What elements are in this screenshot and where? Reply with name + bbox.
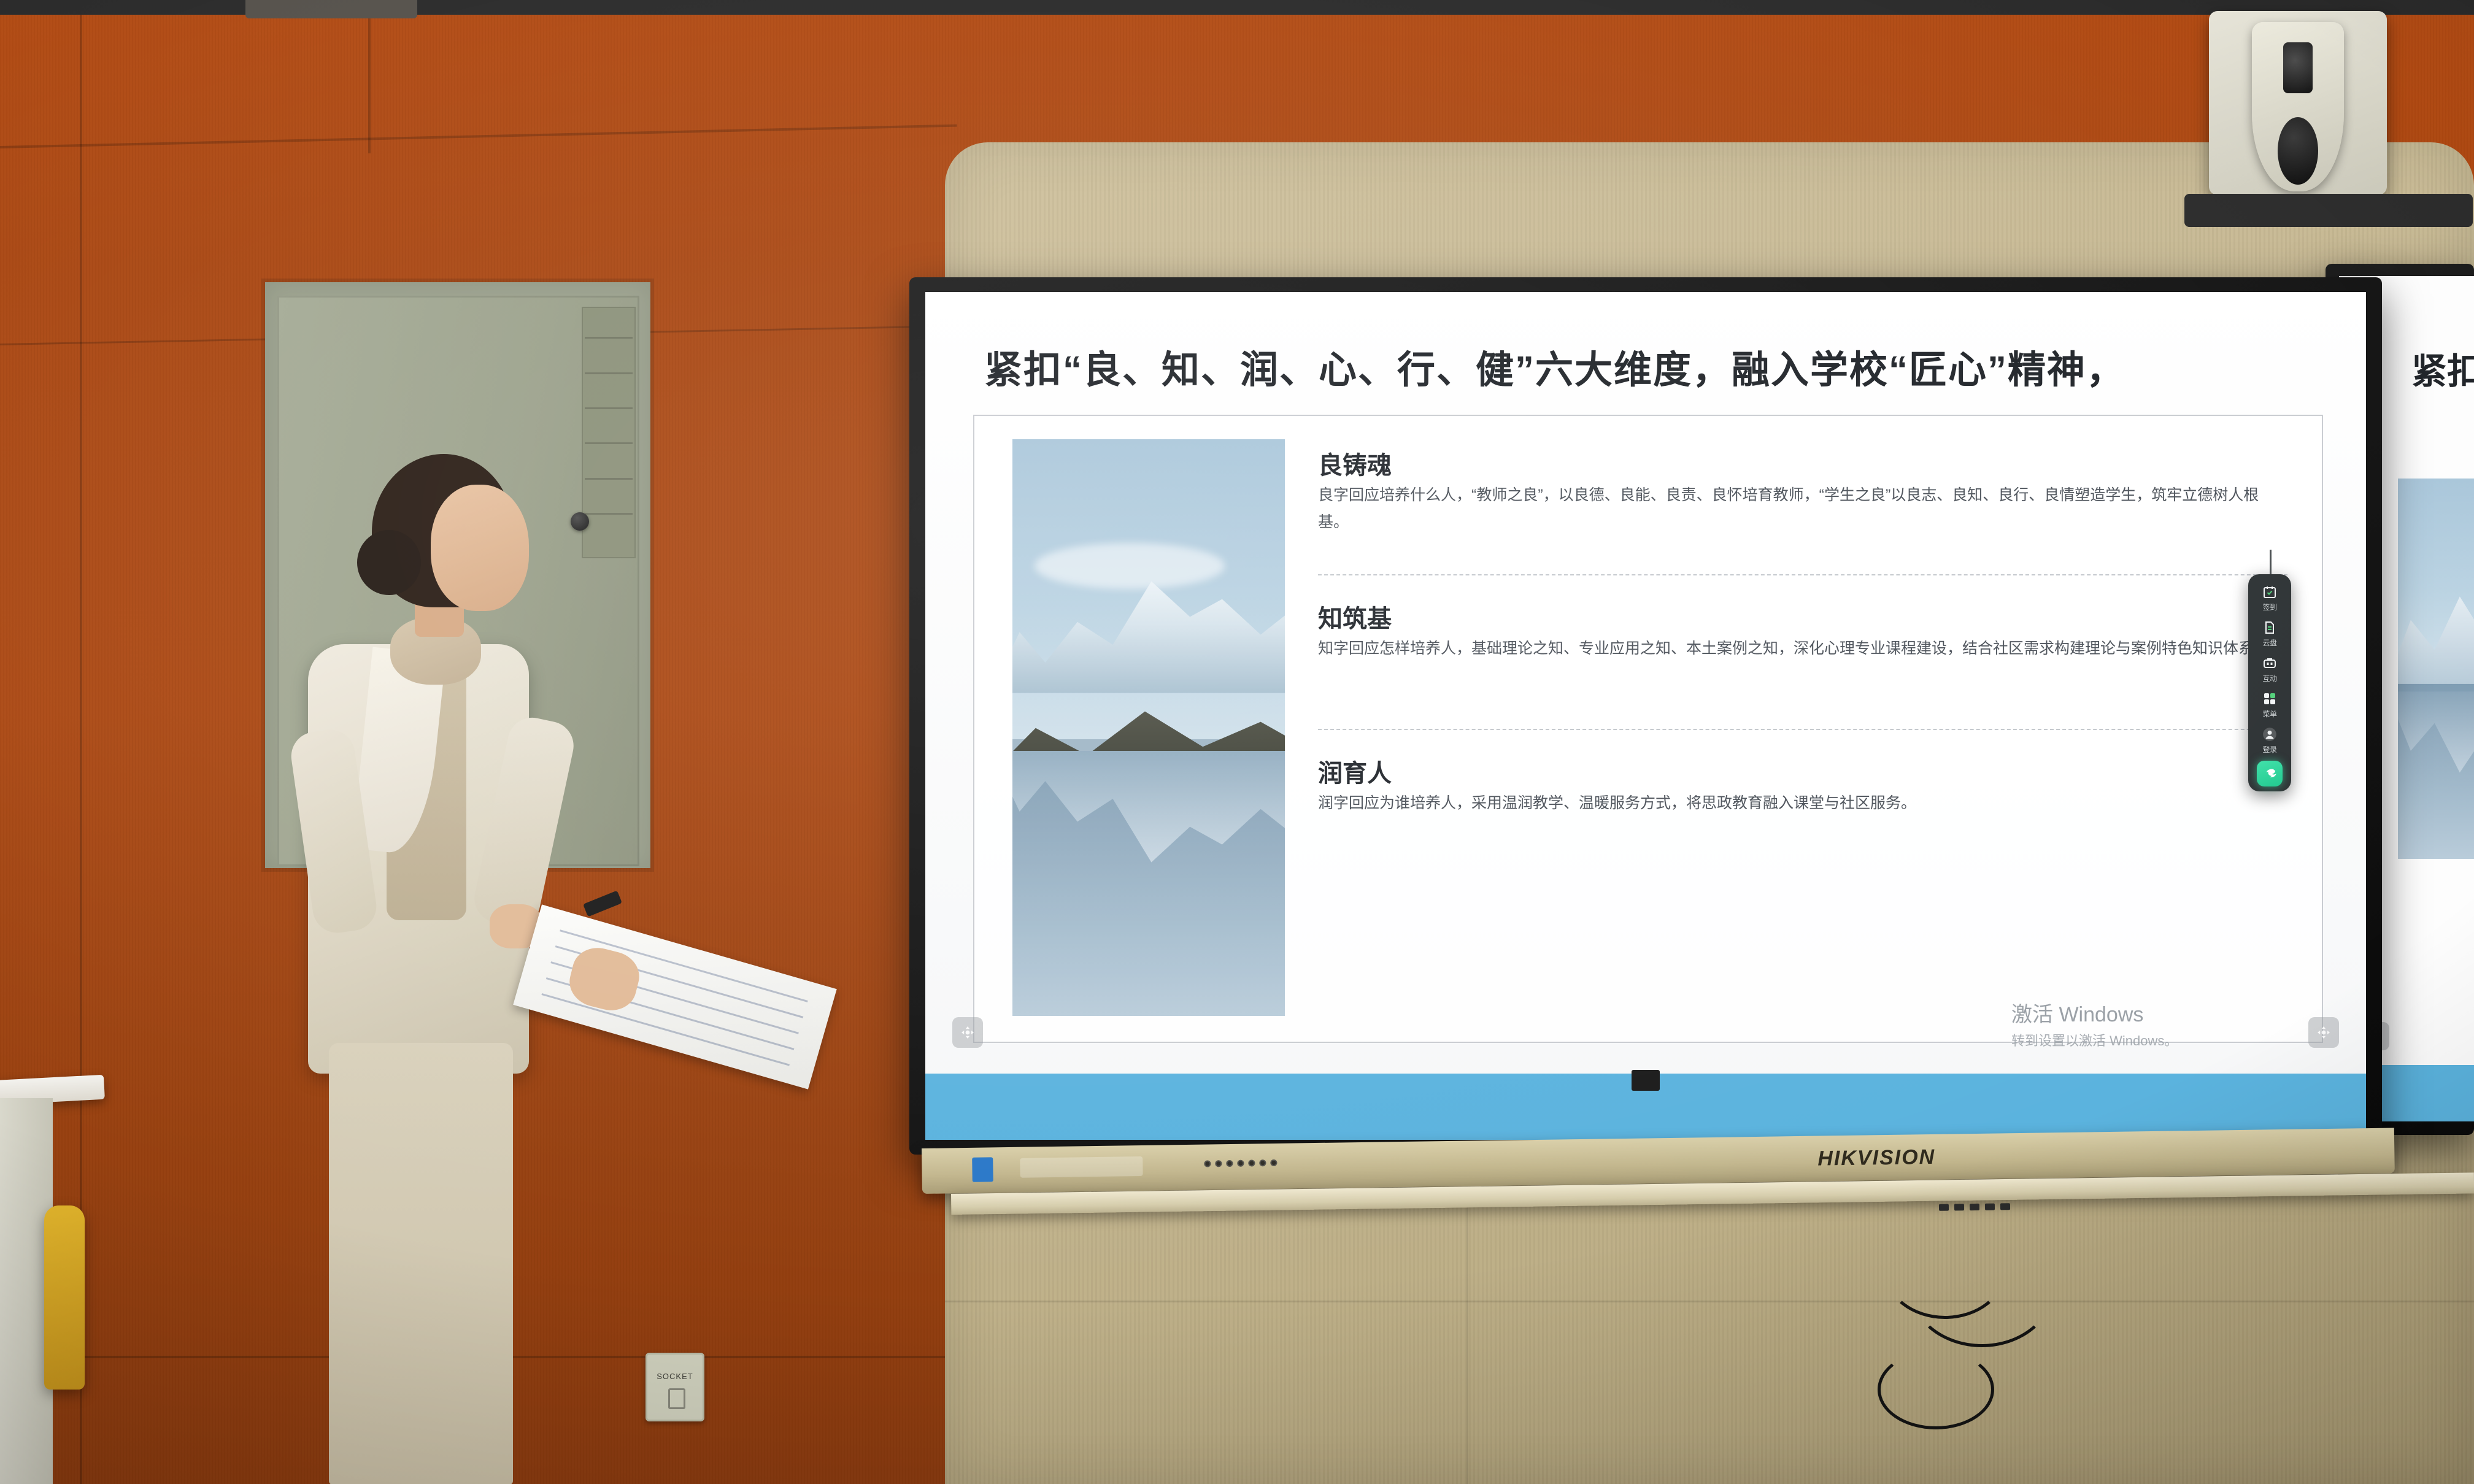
toolbar-item-login[interactable]: 登录	[2248, 725, 2291, 755]
toolbar-item-checkin[interactable]: 签到	[2248, 583, 2291, 612]
camera-body	[2252, 22, 2345, 191]
floating-toolbar[interactable]: 签到 云盘	[2248, 574, 2291, 791]
camera-lens-icon	[2283, 42, 2313, 93]
secondary-slide-photo	[2398, 479, 2474, 859]
footer-handle[interactable]	[1632, 1070, 1660, 1091]
section-3-body: 润字回应为谁培养人，采用温润教学、温暖服务方式，将思政教育融入课堂与社区服务。	[1318, 790, 2287, 817]
watermark-line-2: 转到设置以激活 Windows。	[2011, 1030, 2178, 1050]
wall-seam	[368, 0, 371, 153]
toolbar-item-menu[interactable]: 菜单	[2248, 690, 2291, 719]
ceiling-tile	[245, 0, 417, 18]
speaker-grille	[1204, 1159, 1277, 1167]
display-sticker	[972, 1157, 993, 1182]
panel-seam	[1466, 1166, 1468, 1484]
toolbar-label-login: 登录	[2262, 744, 2276, 755]
app-logo-icon	[2262, 766, 2278, 782]
section-2-body: 知字回应怎样培养人，基础理论之知、专业应用之知、本土案例之知，深化心理专业课程建…	[1318, 636, 2287, 663]
display-screen[interactable]: 紧扣“良、知、润、心、行、健”六大维度，融入学校“匠心”精神， 良铸魂 良字回应…	[925, 292, 2366, 1140]
ceiling-dome-camera	[2209, 11, 2387, 195]
presenter-hair-bun	[357, 530, 421, 595]
section-3-heading: 润育人	[1318, 753, 1392, 789]
display-brand-label: HIKVISION	[1817, 1145, 1935, 1171]
toolbar-label-menu: 菜单	[2262, 709, 2276, 719]
section-1-heading: 良铸魂	[1318, 445, 1392, 481]
panel-seam	[945, 1301, 2474, 1302]
toolbar-label-checkin: 签到	[2262, 602, 2276, 612]
section-divider	[1318, 574, 2287, 575]
screenshot-root: SOCKET 紧扣	[0, 0, 2474, 1484]
toolbar-cable	[2270, 550, 2272, 574]
toolbar-item-interaction[interactable]: 互动	[2248, 654, 2291, 683]
section-1-body: 良字回应培养什么人，“教师之良”，以良德、良能、良责、良怀培育教师，“学生之良”…	[1318, 482, 2287, 536]
toolbar-item-cloud-disk[interactable]: 云盘	[2248, 618, 2291, 648]
move-button-left[interactable]	[952, 1017, 983, 1048]
secondary-slide-title: 紧扣	[2411, 342, 2474, 394]
slide-photo-mountain-lake	[1012, 439, 1285, 1016]
presenter-trousers	[329, 1043, 513, 1484]
checkin-icon	[2259, 583, 2280, 601]
hdmi-cable	[1908, 1224, 2056, 1347]
cable-loop	[1878, 1350, 1994, 1429]
windows-activation-watermark: 激活 Windows 转到设置以激活 Windows。	[2011, 998, 2178, 1050]
login-user-icon	[2259, 725, 2280, 744]
toolbar-label-interaction: 互动	[2262, 673, 2276, 683]
connection-ports[interactable]	[1939, 1203, 2010, 1211]
toolbar-action-button[interactable]	[2257, 761, 2283, 786]
section-2-heading: 知筑基	[1318, 599, 1392, 634]
interactive-display: 紧扣“良、知、润、心、行、健”六大维度，融入学校“匠心”精神， 良铸魂 良字回应…	[909, 277, 2382, 1155]
presenter-face	[431, 485, 529, 611]
move-button-right[interactable]	[2308, 1017, 2339, 1048]
photo-cloud	[1035, 543, 1225, 589]
cloud-disk-icon	[2259, 618, 2280, 637]
menu-grid-icon	[2259, 690, 2280, 708]
camera-bracket	[2184, 194, 2473, 227]
slide-title: 紧扣“良、知、润、心、行、健”六大维度，融入学校“匠心”精神，	[984, 339, 2125, 394]
ir-receiver-window	[1020, 1156, 1143, 1178]
section-divider	[1318, 729, 2287, 730]
presentation-slide: 紧扣“良、知、润、心、行、健”六大维度，融入学校“匠心”精神， 良铸魂 良字回应…	[925, 292, 2366, 1140]
watermark-line-1: 激活 Windows	[2011, 998, 2178, 1028]
toolbar-label-cloud-disk: 云盘	[2262, 637, 2276, 648]
camera-dome-icon	[2278, 117, 2318, 185]
interaction-icon	[2259, 654, 2280, 672]
yellow-chair[interactable]	[44, 1205, 85, 1390]
